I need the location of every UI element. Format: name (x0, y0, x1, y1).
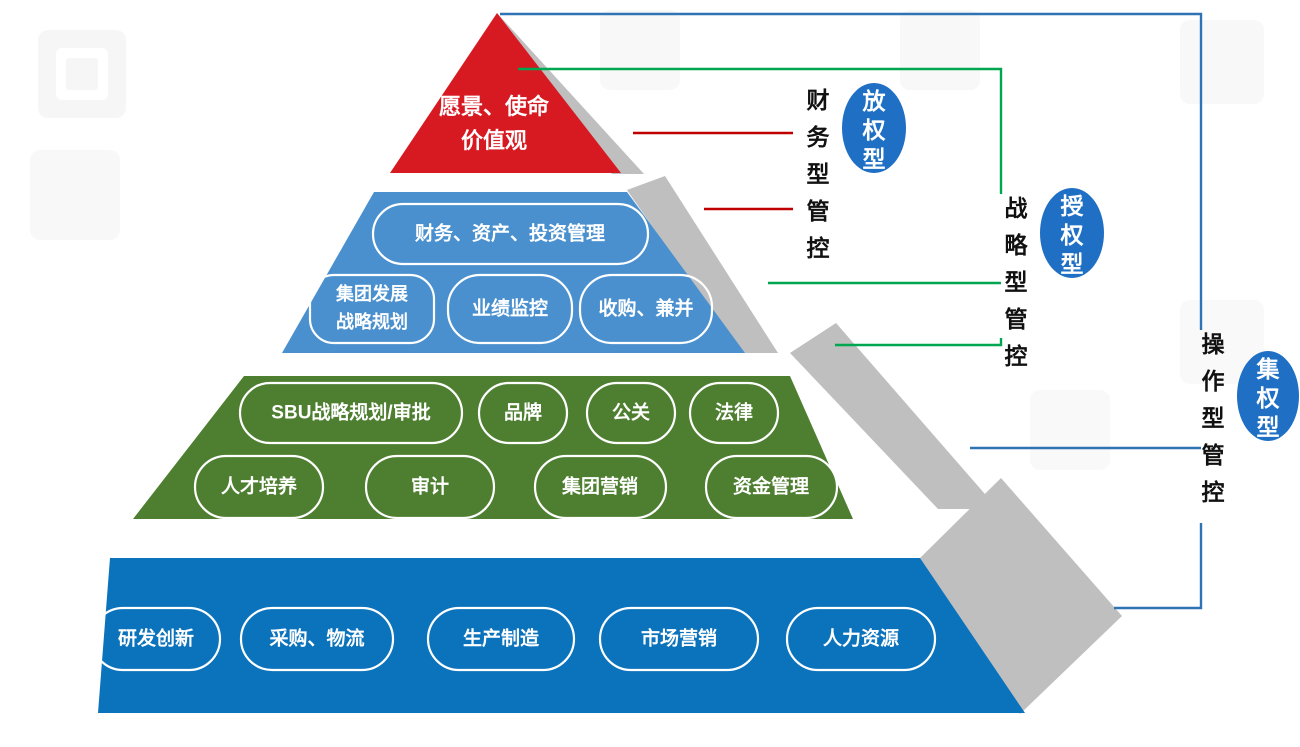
pill-label-manufacturing: 生产制造 (463, 627, 540, 650)
tier-apex[interactable]: 愿景、使命 价值观 (390, 13, 621, 173)
pill-label-public-relations: 公关 (612, 401, 650, 424)
pill-label-human-resources: 人力资源 (823, 627, 899, 650)
apex-label-line2: 价值观 (461, 128, 527, 153)
pill-label-talent-development: 人才培养 (221, 475, 297, 498)
side-label-financial-control[interactable]: 财 务 型 管 控 (807, 87, 831, 261)
tier-operation[interactable]: 研发创新 采购、物流 生产制造 市场营销 人力资源 (92, 558, 1025, 713)
pill-label-group-marketing: 集团营销 (561, 475, 638, 498)
apex-label-line1: 愿景、使命 (439, 94, 550, 119)
pill-label-finance-asset-investment: 财务、资产、投资管理 (415, 222, 605, 245)
badge-centralization-char-3: 型 (1257, 414, 1280, 440)
badge-centralization-char-2: 权 (1256, 385, 1280, 411)
diagram-canvas: 研发创新 采购、物流 生产制造 市场营销 人力资源 SBU战略规划/审批 品牌 … (0, 0, 1300, 747)
side-label-operational-char-3: 型 (1202, 405, 1225, 431)
side-label-strategic-control[interactable]: 战 略 型 管 控 (1005, 195, 1029, 369)
side-label-financial-char-2: 务 (807, 124, 831, 150)
side-label-operational-char-5: 控 (1202, 479, 1225, 505)
pyramid-governance-diagram: 研发创新 采购、物流 生产制造 市场营销 人力资源 SBU战略规划/审批 品牌 … (0, 0, 1300, 747)
bracket-strategic-bottom (835, 338, 1001, 345)
badge-authorization-char-1: 授 (1061, 193, 1085, 219)
side-label-financial-char-3: 型 (807, 161, 830, 187)
badge-centralization[interactable]: 集 权 型 (1237, 351, 1299, 441)
badge-delegation[interactable]: 放 权 型 (842, 83, 906, 173)
pill-label-brand: 品牌 (504, 401, 542, 424)
pill-label-audit: 审计 (411, 475, 449, 498)
side-label-strategic-char-4: 管 (1005, 306, 1028, 332)
side-label-financial-char-1: 财 (807, 87, 830, 113)
side-label-financial-char-4: 管 (807, 198, 830, 224)
pill-label-sbu-strategy-approval: SBU战略规划/审批 (271, 401, 430, 424)
badge-authorization-char-2: 权 (1060, 222, 1084, 248)
pill-label-group-dev-strategy-line2: 战略规划 (336, 311, 408, 332)
side-label-strategic-char-5: 控 (1005, 343, 1028, 369)
badge-delegation-char-1: 放 (862, 88, 887, 114)
pill-label-procurement-logistics: 采购、物流 (269, 627, 364, 650)
bracket-operational-lower (1114, 523, 1201, 608)
pill-label-legal: 法律 (715, 401, 753, 424)
tier-strategy[interactable]: SBU战略规划/审批 品牌 公关 法律 人才培养 审计 集团营销 资金管理 (133, 376, 853, 519)
pill-label-fund-management: 资金管理 (733, 475, 809, 498)
side-label-operational-char-1: 操 (1202, 331, 1225, 357)
side-label-financial-char-5: 控 (807, 235, 830, 261)
side-label-operational-char-4: 管 (1202, 442, 1225, 468)
side-label-operational-char-2: 作 (1202, 368, 1225, 394)
side-label-strategic-char-1: 战 (1005, 195, 1028, 221)
badge-authorization[interactable]: 授 权 型 (1040, 188, 1104, 278)
side-label-strategic-char-3: 型 (1005, 269, 1028, 295)
pill-label-group-dev-strategy-line1: 集团发展 (335, 283, 409, 304)
badge-centralization-char-1: 集 (1256, 356, 1281, 382)
badge-delegation-char-3: 型 (863, 146, 886, 172)
pill-label-marketing: 市场营销 (641, 627, 717, 650)
side-label-strategic-char-2: 略 (1005, 232, 1029, 258)
badge-authorization-char-3: 型 (1061, 251, 1084, 277)
pill-label-acquisition-merger: 收购、兼并 (598, 297, 693, 320)
pill-label-performance-monitoring: 业绩监控 (472, 297, 548, 320)
badge-delegation-char-2: 权 (862, 117, 886, 143)
pill-label-rd-innovation: 研发创新 (118, 627, 194, 650)
